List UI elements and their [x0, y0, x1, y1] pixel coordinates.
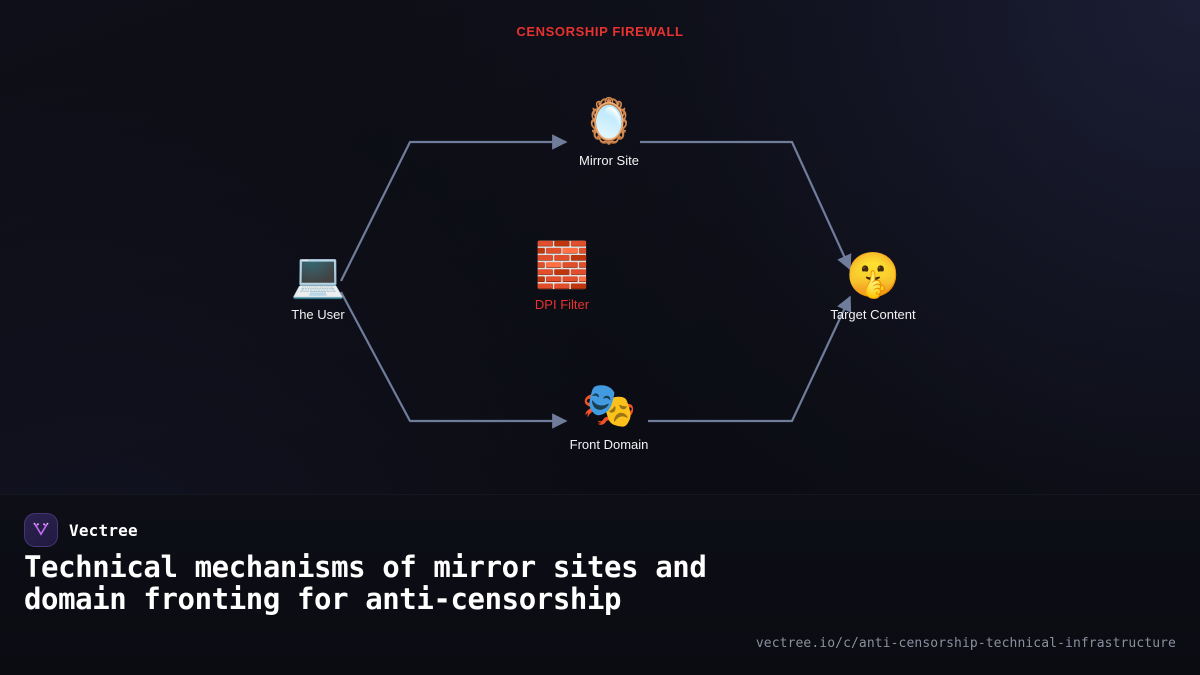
node-label-mirror-site: Mirror Site	[529, 154, 689, 167]
brick-wall-icon: 🧱	[482, 240, 642, 292]
node-label-the-user: The User	[238, 308, 398, 321]
node-label-front-domain: Front Domain	[529, 438, 689, 451]
performing-arts-icon: 🎭	[529, 380, 689, 432]
node-label-dpi-filter: DPI Filter	[482, 298, 642, 311]
footer-panel: Vectree Technical mechanisms of mirror s…	[0, 494, 1200, 675]
mirror-icon: 🪞	[529, 96, 689, 148]
laptop-icon: 💻	[238, 250, 398, 302]
brand-block: Vectree	[24, 513, 138, 547]
node-target-content[interactable]: 🤫 Target Content	[793, 250, 953, 321]
source-url: vectree.io/c/anti-censorship-technical-i…	[756, 636, 1176, 651]
node-front-domain[interactable]: 🎭 Front Domain	[529, 380, 689, 451]
node-mirror-site[interactable]: 🪞 Mirror Site	[529, 96, 689, 167]
node-the-user[interactable]: 💻 The User	[238, 250, 398, 321]
headline: Technical mechanisms of mirror sites and…	[24, 551, 724, 615]
node-label-target-content: Target Content	[793, 308, 953, 321]
brand-name: Vectree	[69, 521, 138, 540]
shushing-face-icon: 🤫	[793, 250, 953, 302]
vectree-logo-icon	[24, 513, 58, 547]
diagram-area: CENSORSHIP FIREWALL 💻 The User 🪞	[0, 0, 1200, 494]
slide-canvas: CENSORSHIP FIREWALL 💻 The User 🪞	[0, 0, 1200, 675]
node-dpi-filter[interactable]: 🧱 DPI Filter	[482, 240, 642, 311]
